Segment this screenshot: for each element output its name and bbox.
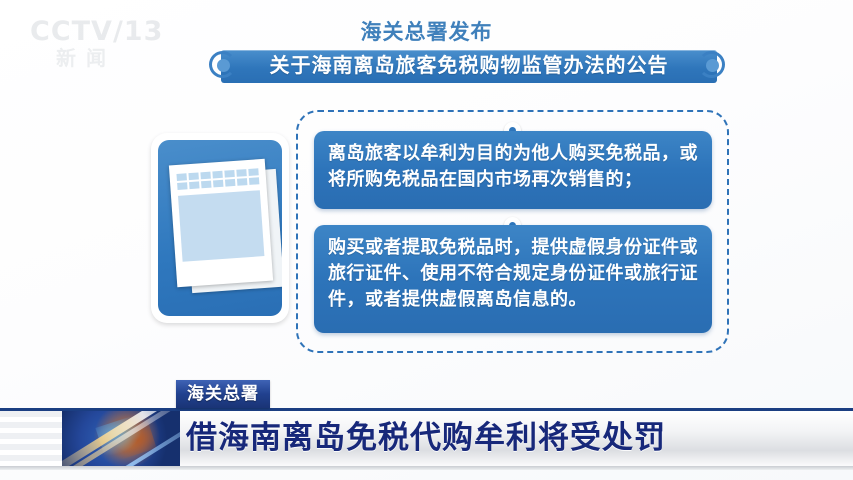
broadcast-screen: CCTV/13 新闻 海关总署发布 关于海南离岛旅客免税购物监管办法的公告: [0, 0, 853, 480]
arc-dot-right: [706, 59, 719, 72]
globe-graphic-icon: [62, 411, 180, 466]
document-body-block: [178, 190, 264, 262]
document-stack-icon: [151, 133, 289, 323]
page-title: 海关总署发布: [0, 16, 853, 46]
document-grid-row-1: [176, 168, 259, 190]
title-banner: 关于海南离岛旅客免税购物监管办法的公告: [209, 50, 729, 83]
circle-arc-left-icon: [209, 51, 240, 82]
status-badge: 海关总署: [176, 380, 270, 408]
arc-dot-left: [217, 59, 230, 72]
lower-third-stripes: [0, 411, 62, 466]
document-icon-inner: [158, 140, 282, 316]
clause-box-2: 购买或者提取免税品时，提供虚假身份证件或旅行证件、使用不符合规定身份证件或旅行证…: [314, 225, 712, 333]
clause-box-1: 离岛旅客以牟利为目的为他人购买免税品，或将所购免税品在国内市场再次销售的；: [314, 131, 712, 209]
lower-third-foot: [0, 466, 853, 470]
headline-text: 借海南离岛免税代购牟利将受处罚: [186, 413, 666, 463]
lower-third: 海关总署 借海南离岛免税代购牟利将受处罚: [0, 408, 853, 468]
channel-logo-sub: 新闻: [56, 49, 160, 69]
document-sheet-front: [169, 159, 273, 287]
circle-arc-right-icon: [698, 51, 729, 82]
title-banner-text: 关于海南离岛旅客免税购物监管办法的公告: [209, 50, 729, 83]
